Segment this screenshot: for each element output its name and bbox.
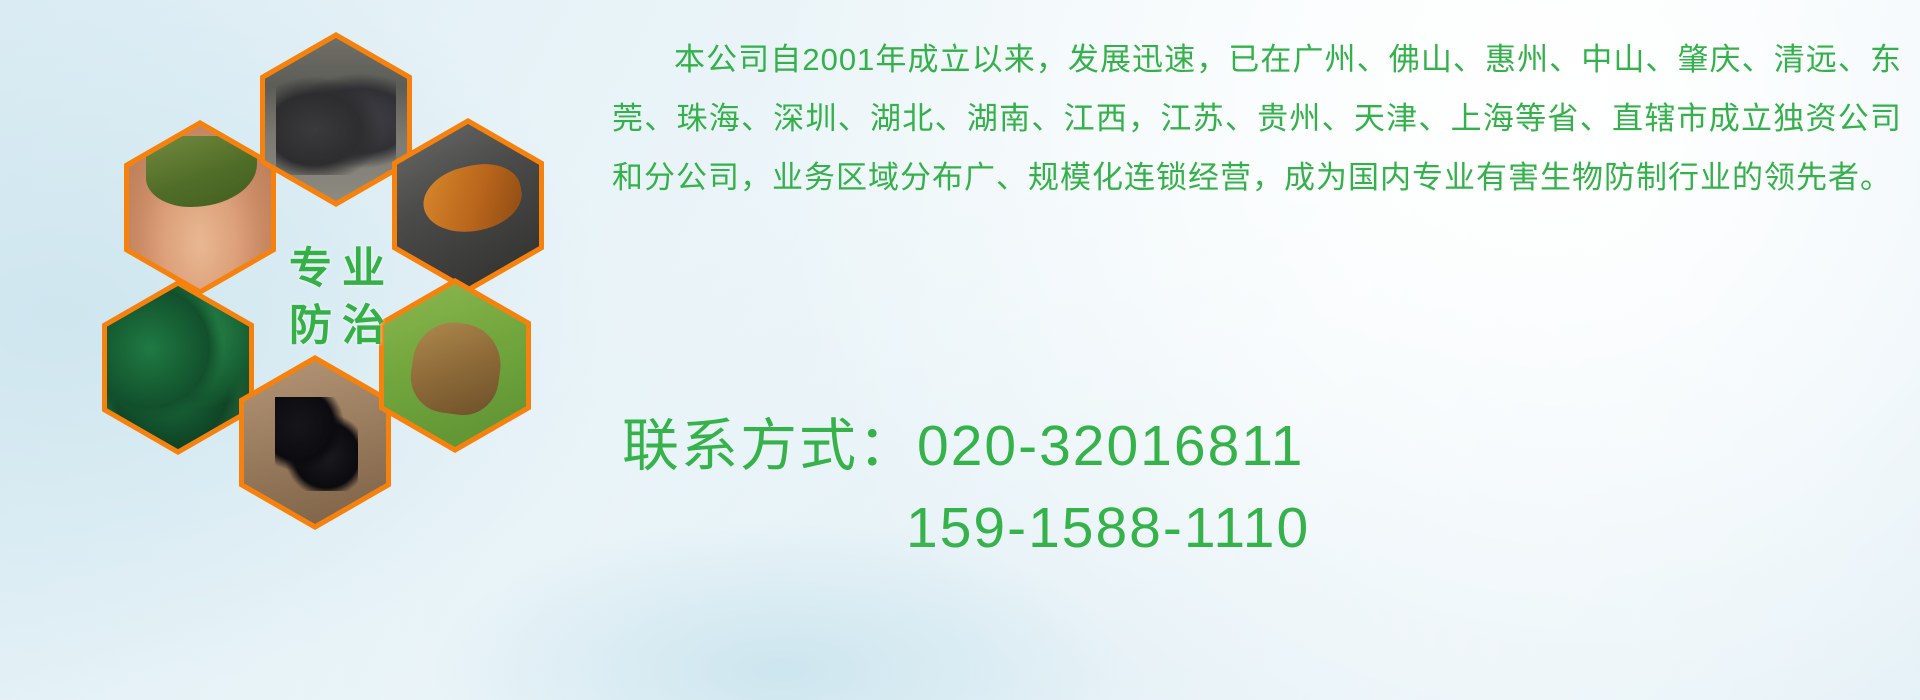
hex-tile-mosquito-frame [129,126,271,289]
promo-banner: 专业 防治 本公司自2001年成立以来，发展迅速，已在广州、佛山、惠州、中山、肇… [0,0,1920,700]
hex-tile-rats [260,32,412,207]
mosquito-photo [129,126,271,289]
hex-label-line-2: 防治 [279,305,395,348]
rats-photo [265,38,407,201]
intro-copy-block: 本公司自2001年成立以来，发展迅速，已在广州、佛山、惠州、中山、肇庆、清远、东… [612,30,1902,207]
contact-phone-primary[interactable]: 联系方式：020-32016811 [622,405,1872,487]
hex-tile-flies-frame [107,286,249,449]
contact-phone-secondary[interactable]: 159-1588-1110 [622,487,1872,569]
hex-photo-cluster: 专业 防治 [92,10,592,555]
hex-center-label: 专业 防治 [252,200,422,396]
flies-photo [107,286,249,449]
contact-block: 联系方式：020-32016811 159-1588-1110 [622,405,1872,569]
hex-tile-flies [102,280,254,455]
intro-paragraph: 本公司自2001年成立以来，发展迅速，已在广州、佛山、惠州、中山、肇庆、清远、东… [612,30,1902,207]
hex-label-line-1: 专业 [279,248,395,291]
hex-tile-rats-frame [265,38,407,201]
